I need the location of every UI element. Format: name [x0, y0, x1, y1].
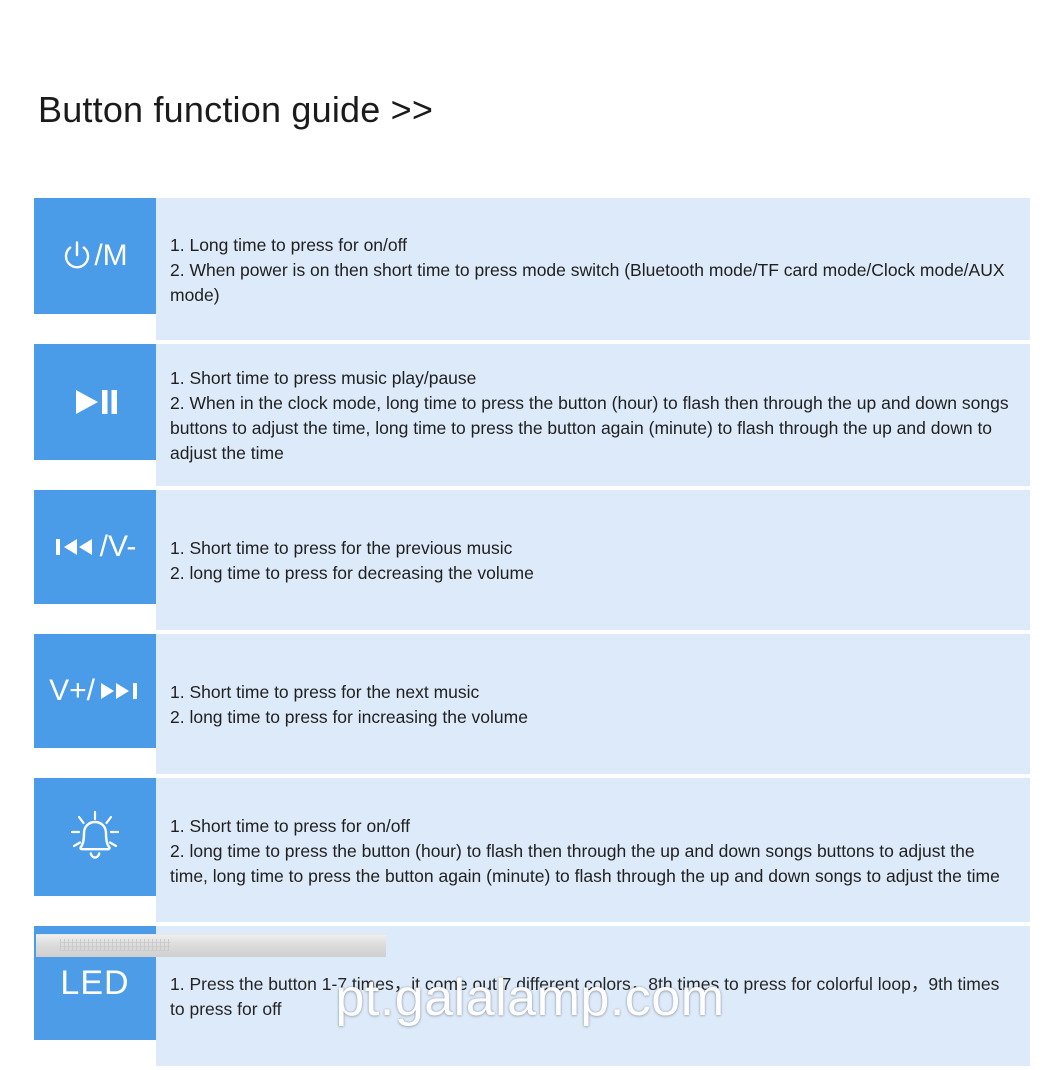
key-cell-alarm[interactable] — [34, 778, 156, 896]
desc-cell-play-pause: 1. Short time to press music play/pause … — [156, 344, 1030, 486]
table-row: /M 1. Long time to press for on/off 2. W… — [34, 198, 1030, 340]
key-label-volume-up-next: V+/ — [49, 676, 95, 706]
desc-cell-volume-up-next: 1. Short time to press for the next musi… — [156, 634, 1030, 774]
table-row: 1. Short time to press music play/pause … — [34, 344, 1030, 486]
table-row: /V- 1. Short time to press for the previ… — [34, 490, 1030, 630]
speaker-mesh — [60, 939, 170, 951]
key-cell-previous-volume-down[interactable]: /V- — [34, 490, 156, 604]
play-pause-icon — [68, 387, 122, 417]
key-cell-volume-up-next[interactable]: V+/ — [34, 634, 156, 748]
table-row: V+/ 1. Short time to press for the next … — [34, 634, 1030, 774]
alarm-bell-icon — [65, 808, 125, 866]
key-cell-play-pause[interactable] — [34, 344, 156, 460]
volume-up-next-icon: V+/ — [49, 676, 141, 706]
guide-page: Button function guide >> /M 1. Long time… — [0, 0, 1060, 1060]
desc-line: 1. Short time to press music play/pause — [170, 366, 1014, 391]
watermark-text: pt.galalamp.com — [0, 968, 1060, 1028]
desc-line: 1. Long time to press for on/off — [170, 233, 1014, 258]
key-label-power-mode: /M — [94, 241, 127, 271]
previous-volume-down-icon: /V- — [54, 532, 137, 562]
desc-line: 2. long time to press for decreasing the… — [170, 561, 1014, 586]
key-label-previous-volume-down: /V- — [100, 532, 137, 562]
desc-line: 1. Short time to press for the next musi… — [170, 680, 1014, 705]
desc-cell-previous-volume-down: 1. Short time to press for the previous … — [156, 490, 1030, 630]
desc-line: 2. long time to press the button (hour) … — [170, 839, 1014, 889]
desc-cell-power-mode: 1. Long time to press for on/off 2. When… — [156, 198, 1030, 340]
key-cell-power-mode[interactable]: /M — [34, 198, 156, 314]
desc-line: 1. Short time to press for the previous … — [170, 536, 1014, 561]
page-title: Button function guide >> — [38, 92, 433, 128]
desc-line: 2. When in the clock mode, long time to … — [170, 391, 1014, 466]
power-mode-icon: /M — [62, 240, 127, 272]
desc-line: 1. Short time to press for on/off — [170, 814, 1014, 839]
desc-line: 2. long time to press for increasing the… — [170, 705, 1014, 730]
desc-line: 2. When power is on then short time to p… — [170, 258, 1014, 308]
table-row: 1. Short time to press for on/off 2. lon… — [34, 778, 1030, 922]
speaker-grille — [36, 934, 386, 957]
desc-cell-alarm: 1. Short time to press for on/off 2. lon… — [156, 778, 1030, 922]
